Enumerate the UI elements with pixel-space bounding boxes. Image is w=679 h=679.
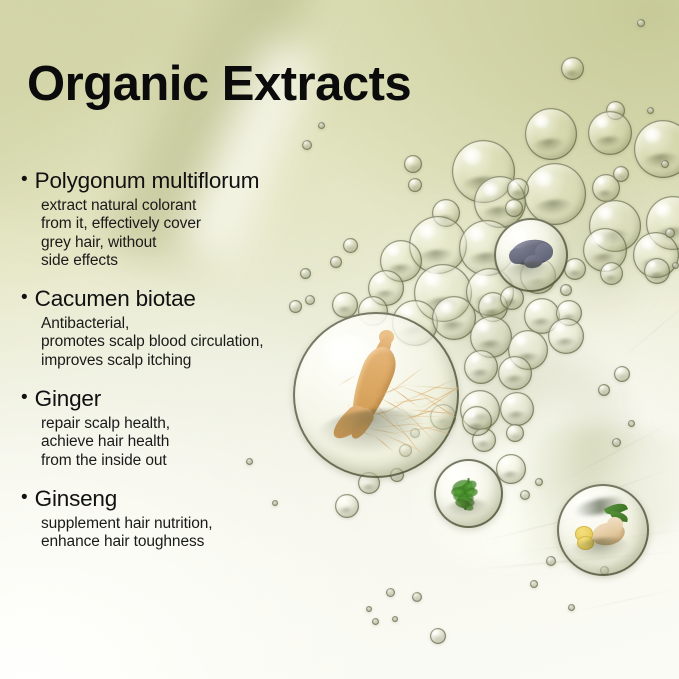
extract-description-line: from the inside out [41, 452, 351, 470]
extract-description: repair scalp health,achieve hair healthf… [41, 415, 351, 470]
extract-description-line: enhance hair toughness [41, 533, 351, 551]
extract-description-line: achieve hair health [41, 433, 351, 451]
extract-name: Cacumen biotae [35, 286, 196, 312]
extract-description: Antibacterial,promotes scalp blood circu… [41, 315, 351, 370]
extract-list: •Polygonum multiflorumextract natural co… [21, 168, 351, 551]
text-content: Organic Extracts •Polygonum multiflorume… [0, 0, 679, 679]
extract-item: •Ginsengsupplement hair nutrition,enhanc… [21, 486, 351, 552]
extract-name: Ginseng [35, 486, 117, 512]
extract-description: supplement hair nutrition,enhance hair t… [41, 515, 351, 552]
extract-description-line: extract natural colorant [41, 197, 351, 215]
extract-description-line: supplement hair nutrition, [41, 515, 351, 533]
extract-description: extract natural colorantfrom it, effecti… [41, 197, 351, 270]
extract-description-line: grey hair, without [41, 234, 351, 252]
extract-description-line: repair scalp health, [41, 415, 351, 433]
extract-description-line: Antibacterial, [41, 315, 351, 333]
extract-description-line: from it, effectively cover [41, 215, 351, 233]
extract-description-line: promotes scalp blood circulation, [41, 333, 351, 351]
page-title: Organic Extracts [27, 56, 411, 112]
extract-heading-row: •Cacumen biotae [21, 286, 351, 312]
extract-heading-row: •Ginseng [21, 486, 351, 512]
extract-item: •Cacumen biotaeAntibacterial,promotes sc… [21, 286, 351, 370]
bullet-dot-icon: • [21, 388, 28, 407]
extract-name: Polygonum multiflorum [35, 168, 260, 194]
extract-item: •Gingerrepair scalp health,achieve hair … [21, 386, 351, 470]
extract-description-line: side effects [41, 252, 351, 270]
extract-name: Ginger [35, 386, 101, 412]
bullet-dot-icon: • [21, 170, 28, 189]
bullet-dot-icon: • [21, 288, 28, 307]
extract-item: •Polygonum multiflorumextract natural co… [21, 168, 351, 270]
bullet-dot-icon: • [21, 488, 28, 507]
extract-heading-row: •Polygonum multiflorum [21, 168, 351, 194]
extract-heading-row: •Ginger [21, 386, 351, 412]
extract-description-line: improves scalp itching [41, 352, 351, 370]
organic-extracts-poster: Organic Extracts •Polygonum multiflorume… [0, 0, 679, 679]
